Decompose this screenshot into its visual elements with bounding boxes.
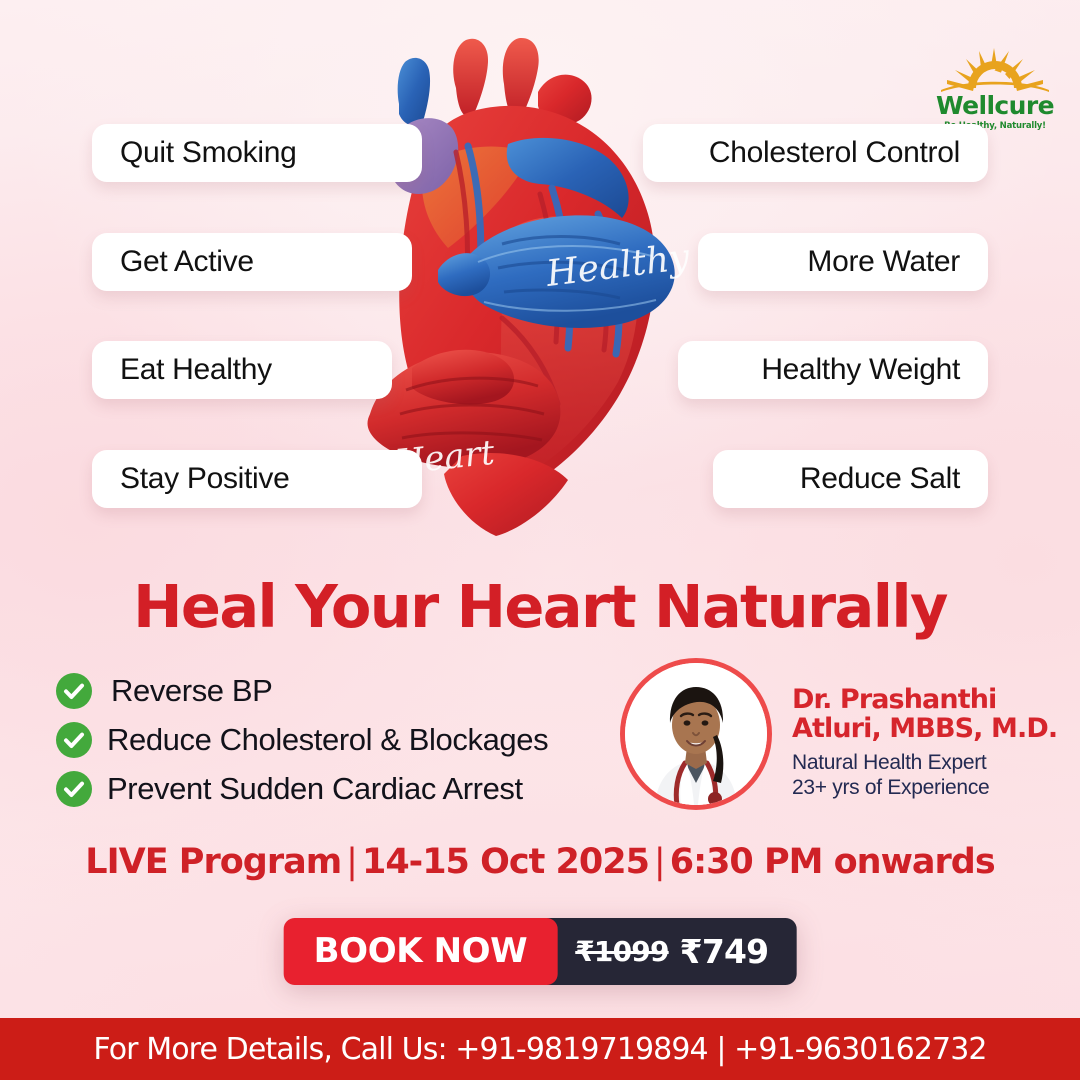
schedule-dates: 14-15 Oct 2025: [362, 842, 649, 882]
book-now-button[interactable]: BOOK NOW: [284, 918, 558, 985]
pill-label: More Water: [807, 245, 960, 279]
doctor-details: Dr. Prashanthi Atluri, MBBS, M.D. Natura…: [792, 658, 1057, 801]
check-circle-icon: [56, 722, 92, 758]
pill-label: Cholesterol Control: [709, 136, 960, 170]
schedule-line: LIVE Program|14-15 Oct 2025|6:30 PM onwa…: [0, 842, 1080, 882]
pill-label: Get Active: [120, 245, 254, 279]
check-circle-icon: [56, 771, 92, 807]
schedule-type: LIVE Program: [85, 842, 341, 882]
check-circle-icon: [56, 673, 92, 709]
benefit-label: Reduce Cholesterol & Blockages: [107, 722, 548, 758]
doctor-specialty: Natural Health Expert: [792, 750, 1057, 776]
schedule-separator-1: |: [341, 842, 362, 882]
pill-label: Eat Healthy: [120, 353, 272, 387]
list-item: Reverse BP: [56, 666, 626, 715]
doctor-credential-block: Dr. Prashanthi Atluri, MBBS, M.D. Natura…: [620, 658, 1057, 810]
price-panel: ₹1099 ₹749: [531, 918, 796, 985]
page-title: Heal Your Heart Naturally: [0, 572, 1080, 641]
contact-text: For More Details, Call Us: +91-981971989…: [93, 1032, 986, 1067]
price-original: ₹1099: [575, 935, 668, 968]
schedule-time: 6:30 PM onwards: [670, 842, 995, 882]
pill-healthy-weight[interactable]: Healthy Weight: [678, 341, 988, 399]
pill-label: Stay Positive: [120, 462, 290, 496]
list-item: Reduce Cholesterol & Blockages: [56, 715, 626, 764]
doctor-name-line2: Atluri, MBBS, M.D.: [792, 715, 1057, 744]
pill-label: Healthy Weight: [761, 353, 960, 387]
pill-stay-positive[interactable]: Stay Positive: [92, 450, 422, 508]
contact-bar[interactable]: For More Details, Call Us: +91-981971989…: [0, 1018, 1080, 1080]
sun-icon: [936, 46, 1054, 92]
pill-eat-healthy[interactable]: Eat Healthy: [92, 341, 392, 399]
doctor-name-line1: Dr. Prashanthi: [792, 686, 1057, 715]
pill-label: Reduce Salt: [800, 462, 960, 496]
list-item: Prevent Sudden Cardiac Arrest: [56, 764, 626, 813]
pill-get-active[interactable]: Get Active: [92, 233, 412, 291]
pill-quit-smoking[interactable]: Quit Smoking: [92, 124, 422, 182]
wellcure-logo[interactable]: Wellcure Be Healthy, Naturally!: [936, 46, 1054, 131]
benefit-label: Prevent Sudden Cardiac Arrest: [107, 771, 523, 807]
avatar: [620, 658, 772, 810]
benefits-list: Reverse BP Reduce Cholesterol & Blockage…: [56, 666, 626, 813]
pill-reduce-salt[interactable]: Reduce Salt: [713, 450, 988, 508]
benefit-label: Reverse BP: [111, 673, 272, 709]
price-discounted: ₹749: [680, 932, 769, 971]
pill-more-water[interactable]: More Water: [698, 233, 988, 291]
pill-label: Quit Smoking: [120, 136, 296, 170]
poster-canvas: Wellcure Be Healthy, Naturally!: [0, 0, 1080, 1080]
schedule-separator-2: |: [649, 842, 670, 882]
doctor-experience: 23+ yrs of Experience: [792, 775, 1057, 801]
pill-cholesterol-control[interactable]: Cholesterol Control: [643, 124, 988, 182]
logo-wordmark: Wellcure: [936, 93, 1054, 118]
cta-row[interactable]: BOOK NOW ₹1099 ₹749: [284, 918, 797, 985]
